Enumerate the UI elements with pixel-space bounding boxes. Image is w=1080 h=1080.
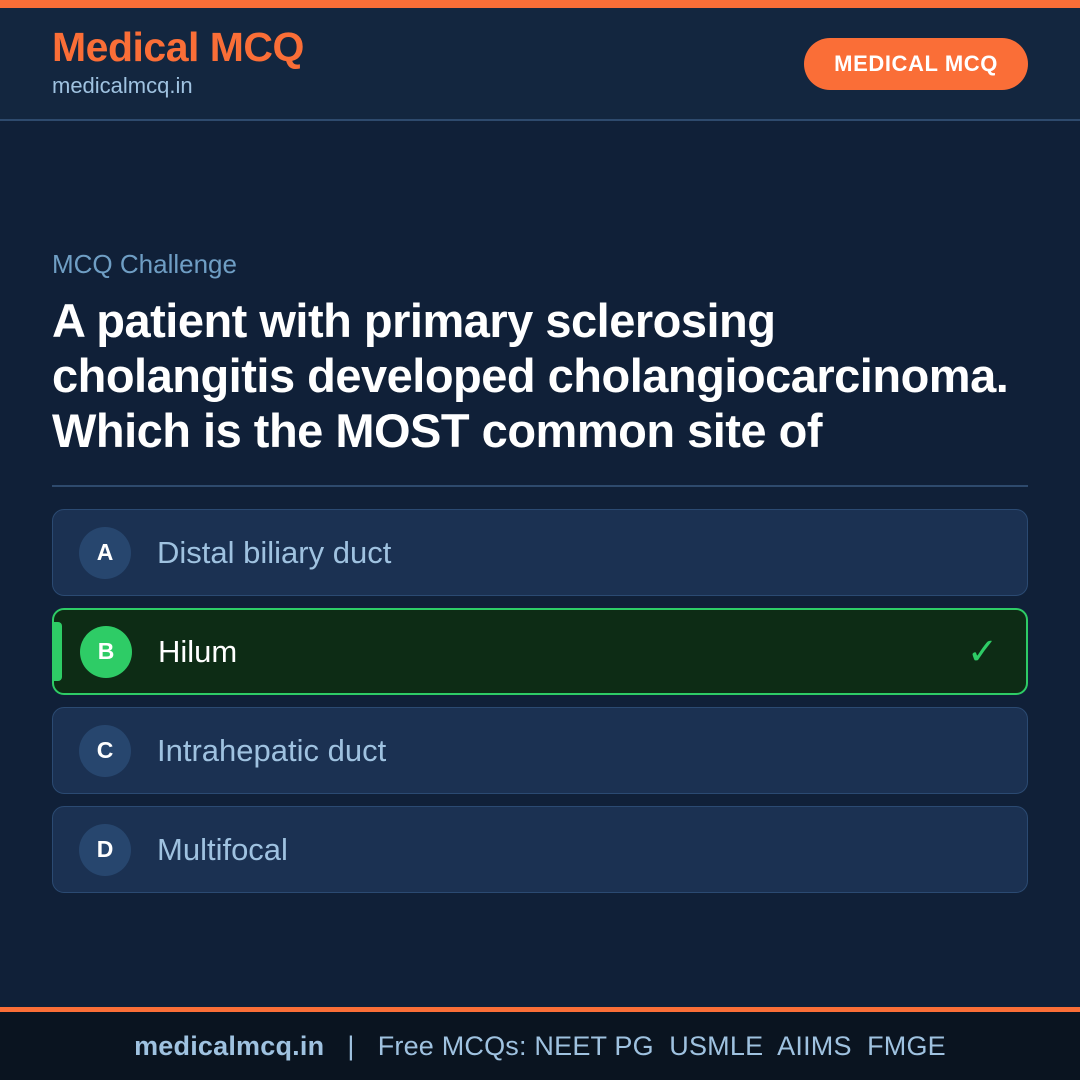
option-text-c: Intrahepatic duct <box>157 732 983 769</box>
footer-site-label: medicalmcq.in <box>134 1031 324 1062</box>
option-letter-a: A <box>79 527 131 579</box>
option-text-b: Hilum <box>158 633 951 670</box>
correct-accent-bar <box>54 622 62 681</box>
option-c[interactable]: C Intrahepatic duct <box>52 707 1028 794</box>
brand-title: Medical MCQ <box>52 26 304 69</box>
option-text-d: Multifocal <box>157 831 983 868</box>
question-panel: MCQ Challenge A patient with primary scl… <box>0 121 1080 1007</box>
option-a[interactable]: A Distal biliary duct <box>52 509 1028 596</box>
check-icon-b: ✓ <box>967 633 998 670</box>
option-b[interactable]: B Hilum ✓ <box>52 608 1028 695</box>
top-accent-rule <box>0 0 1080 8</box>
option-d[interactable]: D Multifocal <box>52 806 1028 893</box>
footer-tagline: Free MCQs: NEET PG USMLE AIIMS FMGE <box>378 1031 946 1062</box>
option-text-a: Distal biliary duct <box>157 534 983 571</box>
question-text: A patient with primary sclerosing cholan… <box>52 294 1028 459</box>
question-divider <box>52 485 1028 487</box>
footer-separator: | <box>324 1031 377 1062</box>
site-footer: medicalmcq.in | Free MCQs: NEET PG USMLE… <box>0 1012 1080 1080</box>
option-letter-b: B <box>80 626 132 678</box>
kicker-label: MCQ Challenge <box>52 249 1028 280</box>
brand-badge: MEDICAL MCQ <box>804 38 1028 90</box>
bottom-spacer <box>52 893 1028 1007</box>
brand-block: Medical MCQ medicalmcq.in <box>52 26 304 102</box>
option-letter-c: C <box>79 725 131 777</box>
option-letter-d: D <box>79 824 131 876</box>
options-list: A Distal biliary duct B Hilum ✓ C Intrah… <box>52 509 1028 893</box>
site-header: Medical MCQ medicalmcq.in MEDICAL MCQ <box>0 8 1080 121</box>
brand-subtitle: medicalmcq.in <box>52 71 304 102</box>
